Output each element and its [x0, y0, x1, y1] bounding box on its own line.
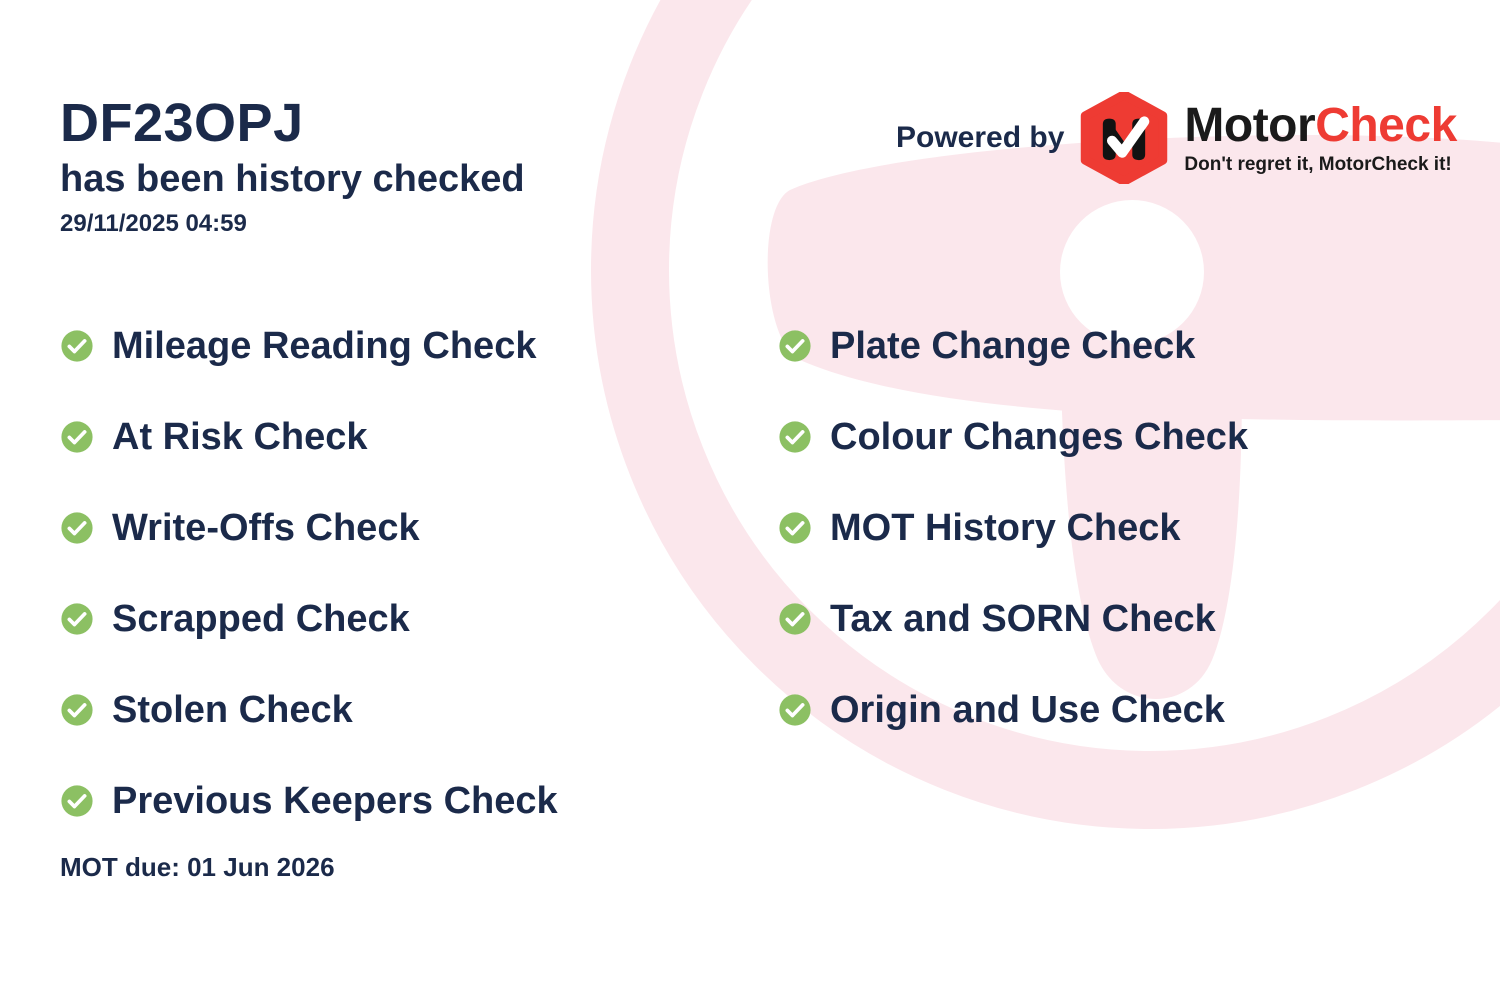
check-item: MOT History Check [778, 482, 1418, 573]
green-check-circle-icon [60, 784, 94, 818]
check-item: Previous Keepers Check [60, 755, 778, 846]
check-item: Tax and SORN Check [778, 573, 1418, 664]
check-label: Tax and SORN Check [830, 600, 1216, 638]
check-label: Origin and Use Check [830, 691, 1225, 729]
green-check-circle-icon [778, 329, 812, 363]
motorcheck-tagline: Don't regret it, MotorCheck it! [1184, 155, 1456, 174]
check-label: Plate Change Check [830, 327, 1195, 365]
check-label: Scrapped Check [112, 600, 410, 638]
wordmark-check: Check [1315, 99, 1457, 152]
check-label: At Risk Check [112, 418, 368, 456]
check-label: MOT History Check [830, 509, 1181, 547]
check-item: Colour Changes Check [778, 391, 1418, 482]
powered-by-motorcheck-branding: Powered by MotorCheck Don't regret it, M… [896, 92, 1457, 184]
check-item: Origin and Use Check [778, 664, 1418, 755]
green-check-circle-icon [778, 511, 812, 545]
check-label: Colour Changes Check [830, 418, 1248, 456]
checks-grid: Mileage Reading Check At Risk Check Writ… [60, 300, 1460, 846]
vehicle-history-check-card: DF23OPJ has been history checked 29/11/2… [0, 0, 1500, 1000]
mot-due-text: MOT due: 01 Jun 2026 [60, 852, 335, 883]
check-label: Mileage Reading Check [112, 327, 536, 365]
checks-column-left: Mileage Reading Check At Risk Check Writ… [60, 300, 778, 846]
wordmark-motor: Motor [1184, 99, 1315, 152]
green-check-circle-icon [60, 329, 94, 363]
green-check-circle-icon [60, 420, 94, 454]
powered-by-label: Powered by [896, 121, 1064, 155]
check-item: Write-Offs Check [60, 482, 778, 573]
header-block: DF23OPJ has been history checked 29/11/2… [60, 96, 525, 238]
green-check-circle-icon [778, 602, 812, 636]
green-check-circle-icon [60, 693, 94, 727]
status-line: has been history checked [60, 156, 525, 204]
green-check-circle-icon [60, 602, 94, 636]
check-item: Mileage Reading Check [60, 300, 778, 391]
green-check-circle-icon [778, 420, 812, 454]
checks-column-right: Plate Change Check Colour Changes Check … [778, 300, 1418, 846]
check-item: Stolen Check [60, 664, 778, 755]
check-item: Scrapped Check [60, 573, 778, 664]
motorcheck-wordmark: MotorCheck Don't regret it, MotorCheck i… [1184, 102, 1456, 174]
check-timestamp: 29/11/2025 04:59 [60, 210, 525, 238]
check-label: Previous Keepers Check [112, 782, 558, 820]
check-label: Write-Offs Check [112, 509, 420, 547]
check-label: Stolen Check [112, 691, 353, 729]
green-check-circle-icon [60, 511, 94, 545]
motorcheck-hexagon-icon [1078, 92, 1170, 184]
check-item: At Risk Check [60, 391, 778, 482]
green-check-circle-icon [778, 693, 812, 727]
vehicle-registration-plate: DF23OPJ [60, 96, 525, 150]
check-item: Plate Change Check [778, 300, 1418, 391]
